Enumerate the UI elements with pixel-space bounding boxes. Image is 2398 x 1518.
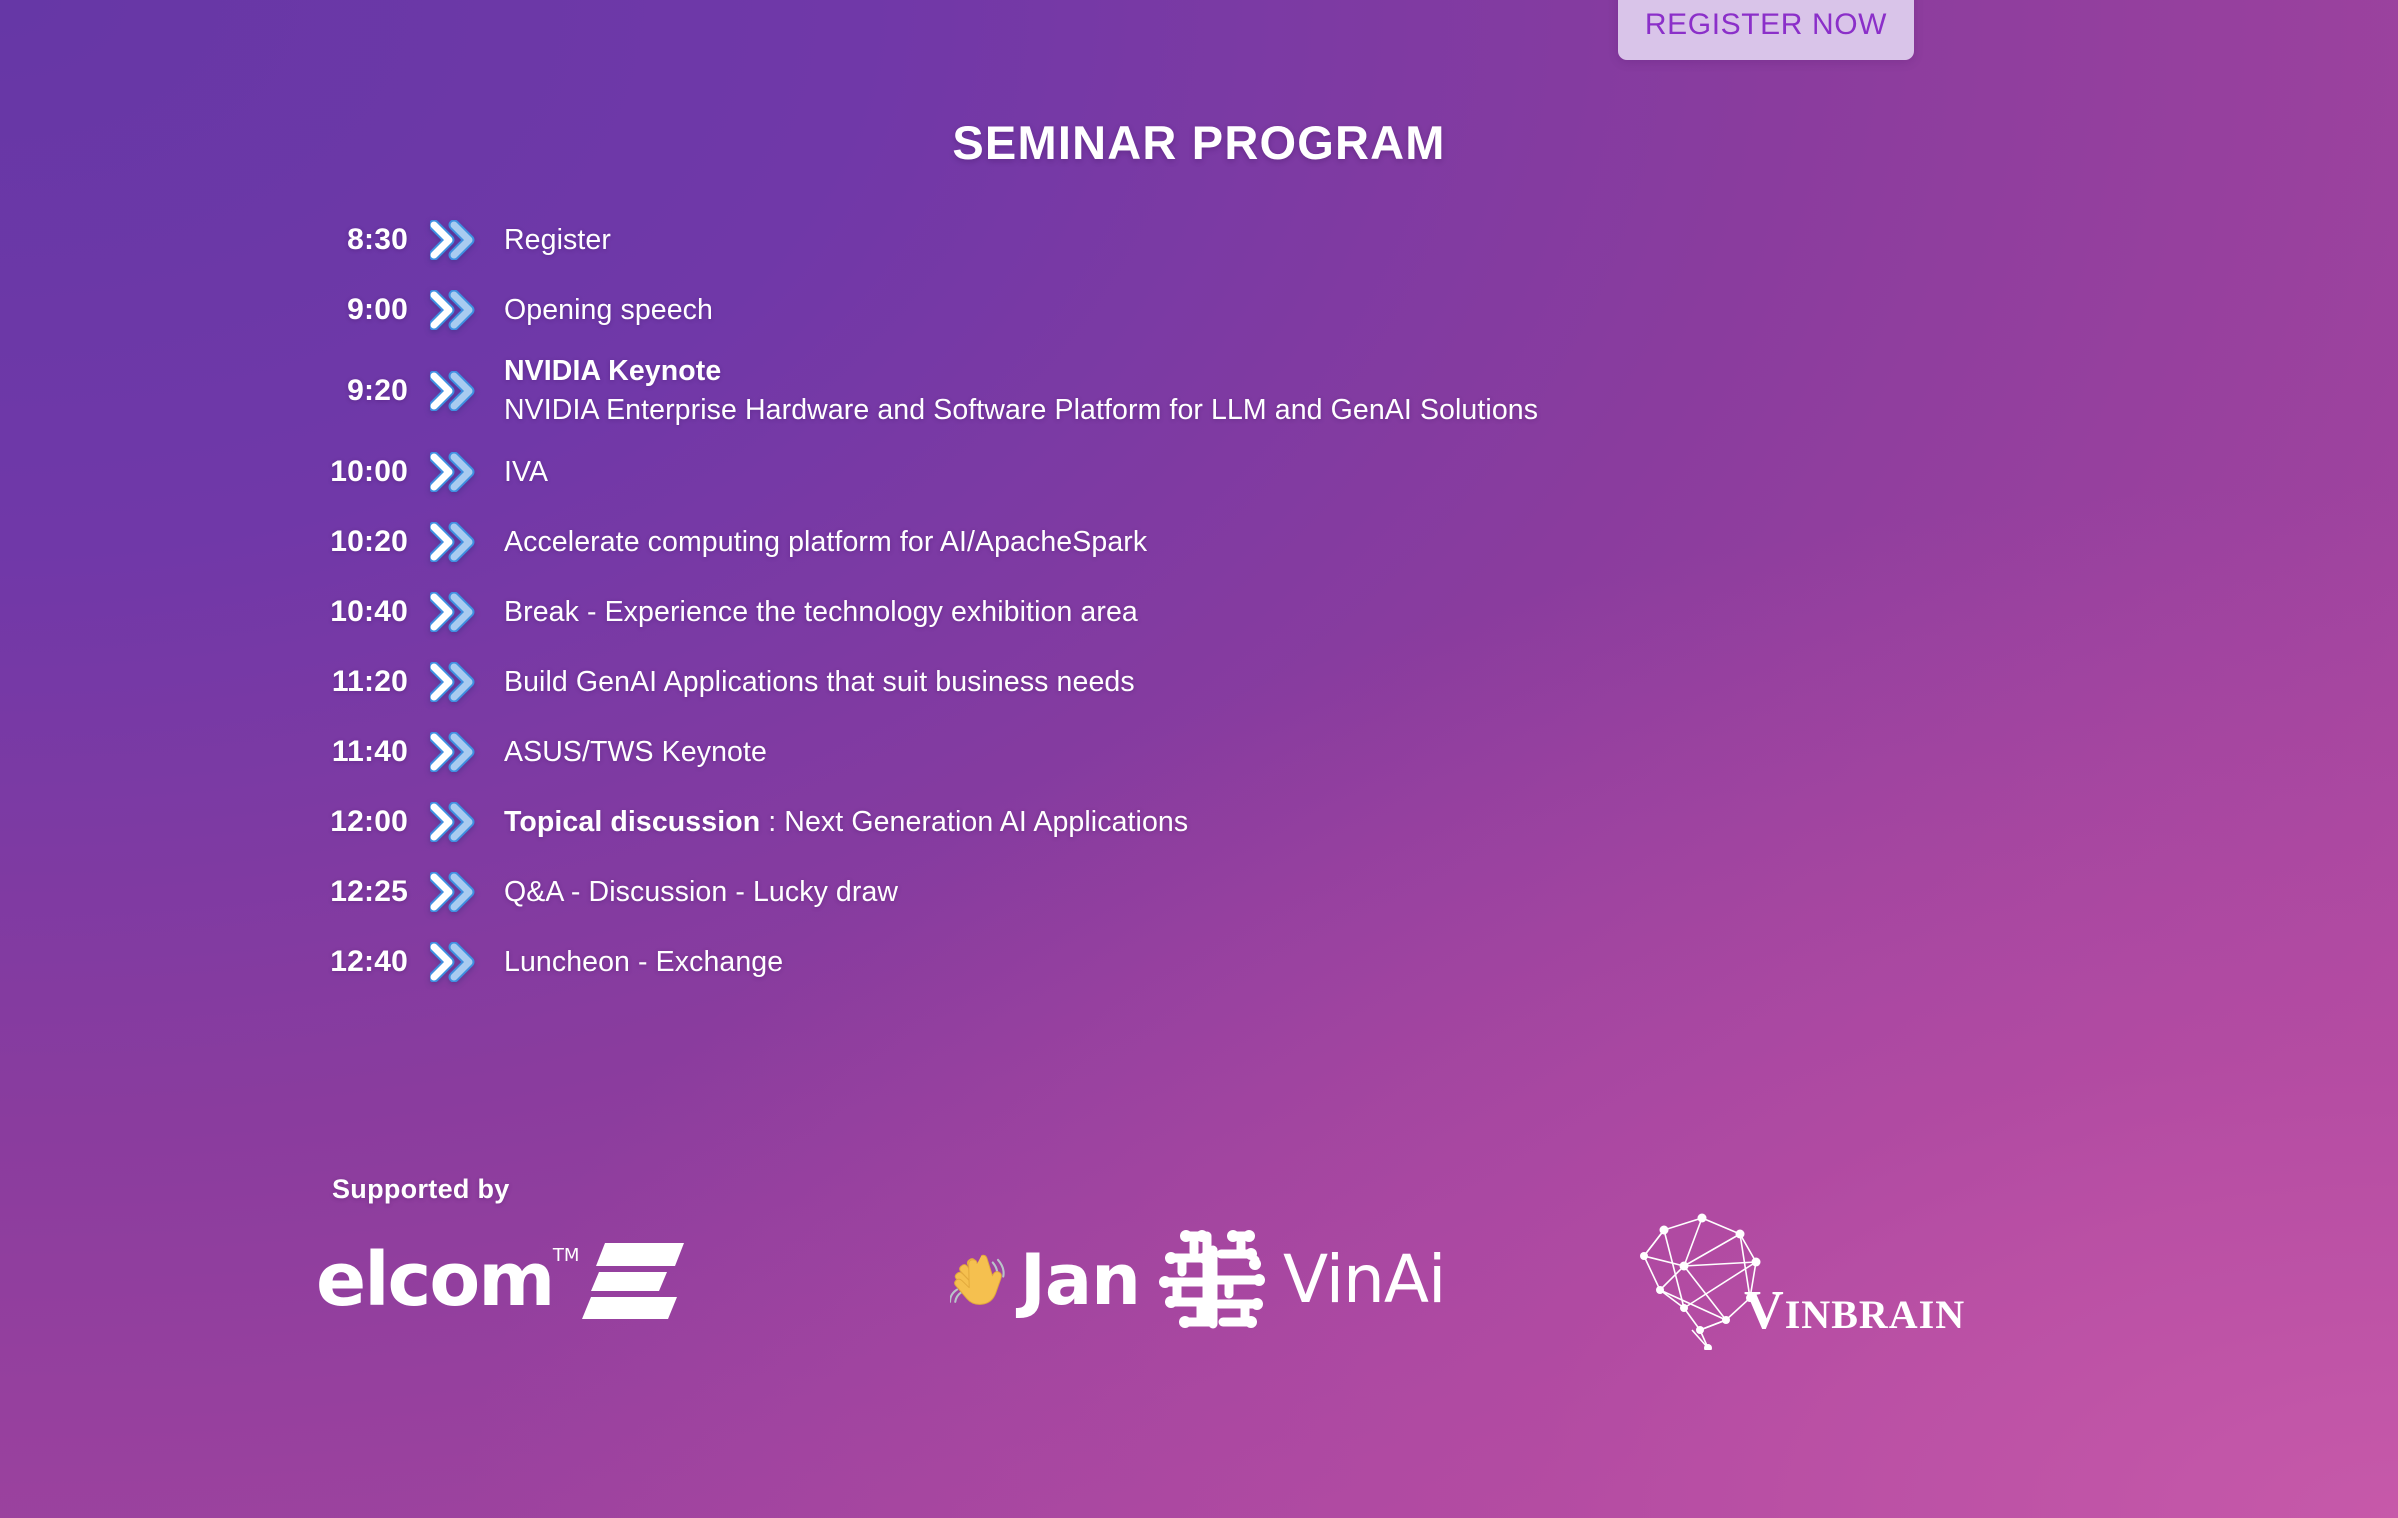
schedule-subtitle: NVIDIA Enterprise Hardware and Software … — [504, 391, 1538, 430]
page-title: SEMINAR PROGRAM — [0, 115, 2398, 170]
schedule-time: 11:20 — [0, 665, 430, 699]
sponsor-logo-strip: elcom TM — [300, 1210, 2150, 1350]
schedule-row: 10:20 Accelerate computing platform for … — [0, 507, 2398, 577]
schedule-text: : Next Generation AI Applications — [760, 806, 1188, 838]
elcom-word-text: elcom — [316, 1237, 553, 1323]
schedule-row: 12:00 Topical discussion : Next Generati… — [0, 787, 2398, 857]
vinbrain-wordmark: VINBRAIN — [1744, 1282, 1965, 1337]
schedule-description: ASUS/TWS Keynote — [500, 733, 767, 772]
schedule-row: 10:00 IVA — [0, 437, 2398, 507]
schedule-row: 12:40 Luncheon - Exchange — [0, 927, 2398, 997]
double-chevron-icon — [430, 662, 500, 702]
schedule-row: 8:30 Register — [0, 205, 2398, 275]
schedule-description: Opening speech — [500, 291, 713, 330]
jan-wordmark: Jan — [1020, 1245, 1140, 1315]
register-now-button[interactable]: REGISTER NOW — [1618, 0, 1914, 60]
schedule-time: 12:00 — [0, 805, 430, 839]
double-chevron-icon — [430, 802, 500, 842]
double-chevron-icon — [430, 290, 500, 330]
sponsor-logo-vinbrain: VINBRAIN — [1610, 1210, 2030, 1350]
schedule-title: NVIDIA Keynote — [504, 352, 1538, 391]
elcom-e-mark-icon — [579, 1239, 684, 1321]
schedule-text: Luncheon - Exchange — [504, 946, 783, 978]
double-chevron-icon — [430, 371, 500, 411]
schedule-description: Topical discussion : Next Generation AI … — [500, 803, 1188, 842]
schedule-description: Build GenAI Applications that suit busin… — [500, 663, 1135, 702]
waving-hand-emoji-icon — [950, 1226, 1006, 1334]
schedule-time: 9:00 — [0, 293, 430, 327]
schedule-row: 9:20 NVIDIA KeynoteNVIDIA Enterprise Har… — [0, 345, 2398, 437]
schedule-text: Q&A - Discussion - Lucky draw — [504, 876, 898, 908]
vinbrain-initial: V — [1744, 1279, 1785, 1340]
double-chevron-icon — [430, 872, 500, 912]
schedule-time: 10:40 — [0, 595, 430, 629]
schedule-bold-prefix: Topical discussion — [504, 806, 760, 838]
sponsor-logo-elcom: elcom TM — [300, 1210, 720, 1350]
double-chevron-icon — [430, 220, 500, 260]
vinbrain-rest: INBRAIN — [1785, 1292, 1965, 1337]
schedule-row: 9:00 Opening speech — [0, 275, 2398, 345]
schedule-description: IVA — [500, 453, 548, 492]
double-chevron-icon — [430, 942, 500, 982]
elcom-wordmark: elcom TM — [316, 1243, 553, 1317]
schedule-row: 11:20 Build GenAI Applications that suit… — [0, 647, 2398, 717]
schedule-text: IVA — [504, 456, 548, 488]
schedule-description: Luncheon - Exchange — [500, 943, 783, 982]
schedule-time: 10:00 — [0, 455, 430, 489]
sponsor-logo-vinai: VinAi — [1140, 1210, 1610, 1350]
vinai-circuit-mark-icon — [1155, 1222, 1273, 1338]
schedule-description: Register — [500, 221, 611, 260]
schedule-description: NVIDIA KeynoteNVIDIA Enterprise Hardware… — [500, 352, 1538, 430]
schedule-row: 10:40 Break - Experience the technology … — [0, 577, 2398, 647]
schedule-time: 12:25 — [0, 875, 430, 909]
schedule-time: 10:20 — [0, 525, 430, 559]
double-chevron-icon — [430, 592, 500, 632]
schedule-time: 9:20 — [0, 374, 430, 408]
schedule-text: Accelerate computing platform for AI/Apa… — [504, 526, 1147, 558]
double-chevron-icon — [430, 522, 500, 562]
schedule-row: 12:25 Q&A - Discussion - Lucky draw — [0, 857, 2398, 927]
schedule-text: Register — [504, 224, 611, 256]
schedule-text: Build GenAI Applications that suit busin… — [504, 666, 1135, 698]
vinai-wordmark: VinAi — [1283, 1247, 1445, 1313]
seminar-schedule-list: 8:30 Register9:00 Opening speech9:20 NVI… — [0, 205, 2398, 997]
poster-background: REGISTER NOW SEMINAR PROGRAM 8:30 Regist… — [0, 0, 2398, 1518]
sponsor-logo-jan: Jan — [720, 1210, 1140, 1350]
trademark-icon: TM — [553, 1247, 580, 1265]
schedule-time: 8:30 — [0, 223, 430, 257]
schedule-text: Opening speech — [504, 294, 713, 326]
schedule-description: Q&A - Discussion - Lucky draw — [500, 873, 898, 912]
schedule-row: 11:40 ASUS/TWS Keynote — [0, 717, 2398, 787]
double-chevron-icon — [430, 732, 500, 772]
schedule-description: Accelerate computing platform for AI/Apa… — [500, 523, 1147, 562]
schedule-text: ASUS/TWS Keynote — [504, 736, 767, 768]
supported-by-label: Supported by — [332, 1174, 510, 1205]
schedule-text: Break - Experience the technology exhibi… — [504, 596, 1138, 628]
double-chevron-icon — [430, 452, 500, 492]
schedule-time: 12:40 — [0, 945, 430, 979]
schedule-description: Break - Experience the technology exhibi… — [500, 593, 1138, 632]
schedule-time: 11:40 — [0, 735, 430, 769]
